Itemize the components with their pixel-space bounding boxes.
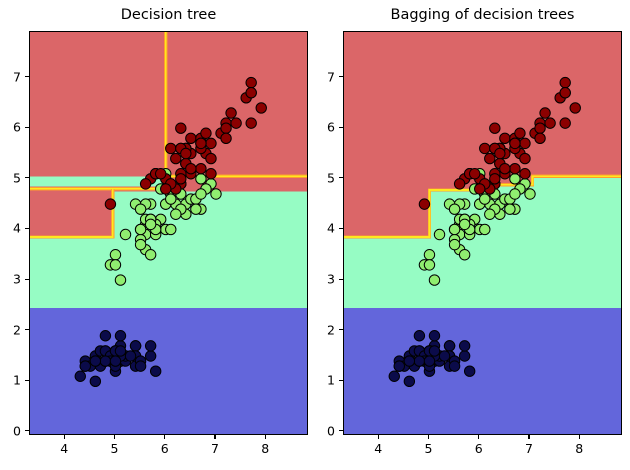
scatter-point-setosa (414, 331, 424, 341)
scatter-point-setosa (459, 351, 469, 361)
scatter-point-virginica (510, 138, 520, 148)
scatter-point-virginica (500, 163, 510, 173)
scatter-point-virginica (520, 138, 530, 148)
y-tick-label: 4 (309, 221, 335, 236)
y-tickmark (339, 279, 343, 280)
scatter-point-virginica (535, 133, 545, 143)
scatter-point-setosa (404, 356, 414, 366)
scatter-point-setosa (429, 346, 439, 356)
scatter-layer-bagging-of-decision-trees (344, 32, 622, 435)
scatter-point-setosa (449, 361, 459, 371)
y-tick-label: 5 (309, 170, 335, 185)
scatter-point-versicolor (449, 204, 459, 214)
scatter-point-setosa (444, 341, 454, 351)
y-tick-label: 6 (309, 120, 335, 135)
scatter-point-virginica (419, 199, 429, 209)
scatter-point-versicolor (485, 209, 495, 219)
figure-canvas: Decision tree0123456745678Bagging of dec… (0, 0, 630, 470)
scatter-point-virginica (475, 184, 485, 194)
scatter-point-setosa (424, 356, 434, 366)
y-tickmark (339, 380, 343, 381)
scatter-point-versicolor (429, 275, 439, 285)
scatter-point-virginica (500, 133, 510, 143)
plot-area-bagging-of-decision-trees (343, 31, 622, 435)
scatter-point-virginica (454, 179, 464, 189)
scatter-point-versicolor (424, 250, 434, 260)
scatter-point-setosa (439, 351, 449, 361)
y-tickmark (339, 127, 343, 128)
subplot-title-bagging-of-decision-trees: Bagging of decision trees (343, 7, 622, 23)
scatter-point-virginica (520, 169, 530, 179)
scatter-point-virginica (485, 153, 495, 163)
scatter-point-virginica (520, 153, 530, 163)
scatter-point-virginica (560, 88, 570, 98)
scatter-point-virginica (470, 169, 480, 179)
scatter-point-virginica (570, 103, 580, 113)
scatter-point-setosa (404, 376, 414, 386)
scatter-point-versicolor (480, 194, 490, 204)
x-tickmark (579, 435, 580, 439)
scatter-point-virginica (480, 143, 490, 153)
y-tickmark (339, 430, 343, 431)
scatter-point-virginica (560, 118, 570, 128)
scatter-point-setosa (394, 361, 404, 371)
y-tickmark (339, 76, 343, 77)
x-tickmark (478, 435, 479, 439)
y-tickmark (339, 228, 343, 229)
scatter-point-versicolor (480, 224, 490, 234)
scatter-point-virginica (495, 148, 505, 158)
scatter-point-virginica (545, 118, 555, 128)
scatter-point-versicolor (505, 204, 515, 214)
scatter-point-setosa (389, 371, 399, 381)
y-tick-label: 3 (309, 272, 335, 287)
x-tick-label: 7 (525, 441, 533, 456)
scatter-point-versicolor (525, 189, 535, 199)
scatter-point-versicolor (510, 189, 520, 199)
y-tick-label: 2 (309, 322, 335, 337)
scatter-point-setosa (429, 331, 439, 341)
x-tickmark (528, 435, 529, 439)
scatter-point-virginica (490, 123, 500, 133)
x-tick-label: 4 (374, 441, 382, 456)
scatter-point-virginica (560, 77, 570, 87)
scatter-point-virginica (490, 174, 500, 184)
y-tickmark (339, 177, 343, 178)
scatter-point-setosa (459, 341, 469, 351)
y-tick-label: 7 (309, 69, 335, 84)
scatter-point-virginica (510, 163, 520, 173)
x-tickmark (428, 435, 429, 439)
scatter-point-versicolor (449, 224, 459, 234)
x-tick-label: 5 (424, 441, 432, 456)
scatter-point-virginica (535, 123, 545, 133)
scatter-point-versicolor (434, 229, 444, 239)
y-tickmark (339, 329, 343, 330)
scatter-point-versicolor (510, 174, 520, 184)
subplot-bagging-of-decision-trees: Bagging of decision trees0123456745678 (0, 0, 630, 470)
scatter-point-versicolor (449, 239, 459, 249)
scatter-point-setosa (464, 366, 474, 376)
x-tickmark (378, 435, 379, 439)
x-tick-label: 6 (475, 441, 483, 456)
scatter-point-setosa (414, 356, 424, 366)
scatter-point-versicolor (459, 219, 469, 229)
scatter-point-virginica (540, 108, 550, 118)
scatter-point-versicolor (424, 260, 434, 270)
y-tick-label: 0 (309, 423, 335, 438)
y-tick-label: 1 (309, 373, 335, 388)
scatter-point-virginica (515, 128, 525, 138)
scatter-point-versicolor (459, 250, 469, 260)
x-tick-label: 8 (575, 441, 583, 456)
